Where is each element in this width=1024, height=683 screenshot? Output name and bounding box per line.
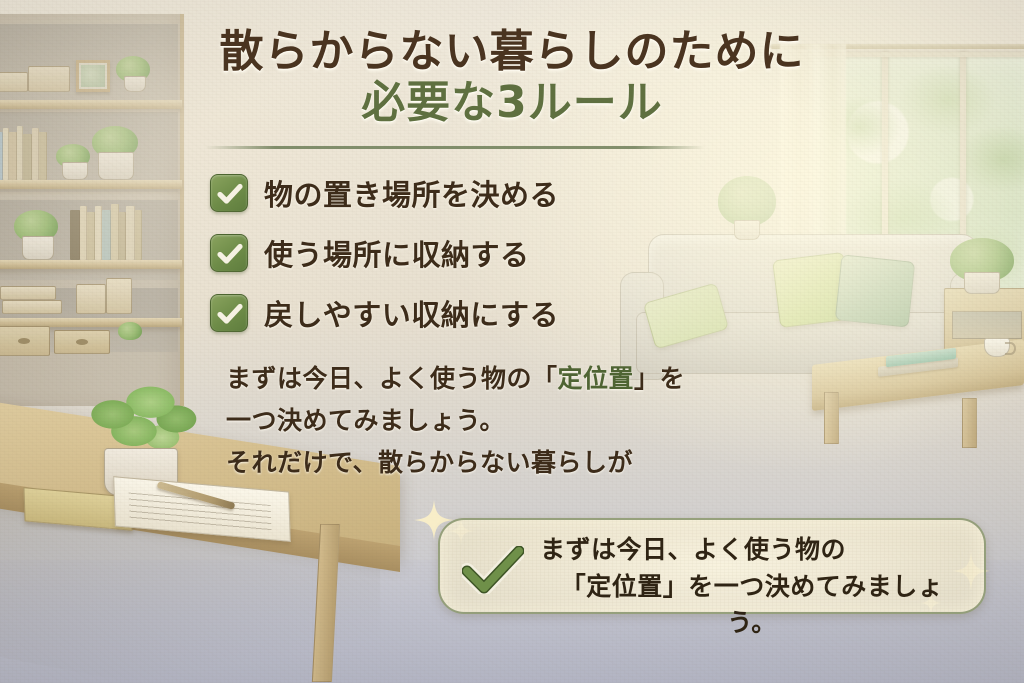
body-line-1: まずは今日、よく使う物の「定位置」を [226,358,685,400]
callout-text: まずは今日、よく使う物の 「定位置」を一つ決めてみましょう。 [540,532,970,642]
body-paragraph: まずは今日、よく使う物の「定位置」を 一つ決めてみましょう。 それだけで、散らか… [226,358,685,484]
body-highlight: 定位置 [558,364,635,393]
page-title: 散らからない暮らしのために 必要な3ルール [0,28,1024,127]
body-line-3: それだけで、散らからない暮らしが [226,442,685,484]
title-line-2: 必要な3ルール [0,78,1024,127]
list-item[interactable]: 使う場所に収納する [210,232,559,274]
list-item[interactable]: 戻しやすい収納にする [210,292,559,334]
callout-box: まずは今日、よく使う物の 「定位置」を一つ決めてみましょう。 [438,518,986,614]
list-item[interactable]: 物の置き場所を決める [210,172,559,214]
callout-line-2: 「定位置」を一つ決めてみましょう。 [540,569,970,642]
body-line-1-suffix: 」を [634,364,685,393]
body-line-1-prefix: まずは今日、よく使う物の「 [226,364,558,393]
list-item-label: 物の置き場所を決める [264,172,559,214]
list-item-label: 戻しやすい収納にする [264,292,559,334]
checkbox-checked-icon[interactable] [210,174,248,212]
rules-checklist: 物の置き場所を決める 使う場所に収納する 戻しやすい収納にする [210,172,559,352]
body-line-2: 一つ決めてみましょう。 [226,400,685,442]
callout-line-1: まずは今日、よく使う物の [540,532,970,569]
checkbox-checked-icon[interactable] [210,294,248,332]
title-divider [205,146,705,149]
list-item-label: 使う場所に収納する [264,232,530,274]
checkbox-checked-icon[interactable] [210,234,248,272]
check-mark-icon [462,546,524,598]
poster-canvas: 散らからない暮らしのために 必要な3ルール 物の置き場所を決める 使う [0,0,1024,683]
title-line-1: 散らからない暮らしのために [0,28,1024,76]
